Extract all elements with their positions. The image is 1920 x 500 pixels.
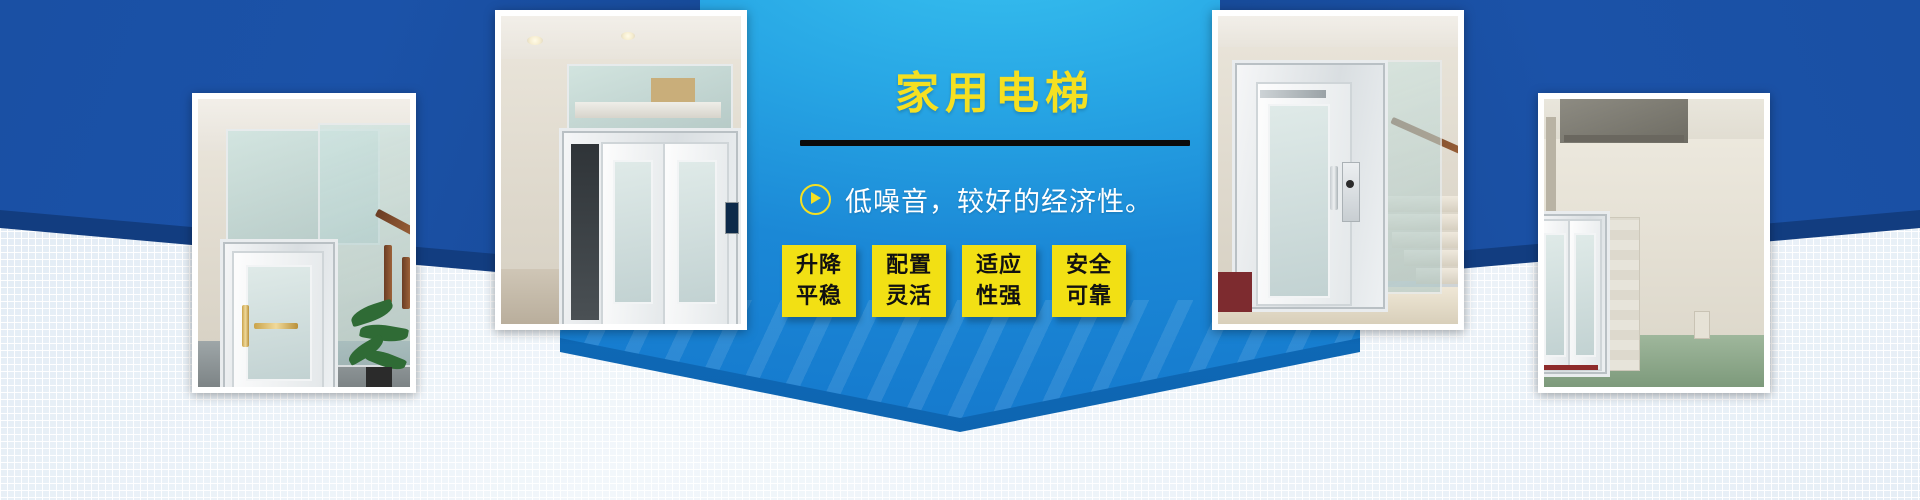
page-title: 家用电梯	[760, 70, 1230, 118]
photo-4-scene	[1544, 99, 1764, 387]
subtitle-text: 低噪音，较好的经济性。	[845, 180, 1153, 219]
product-photo-3[interactable]	[1212, 10, 1464, 330]
product-photo-2[interactable]	[495, 10, 747, 330]
banner-text-block: 家用电梯 低噪音，较好的经济性。 升降 平稳 配置 灵活 适应 性强 安全 可靠	[760, 70, 1230, 317]
subtitle-row: 低噪音，较好的经济性。	[800, 180, 1230, 219]
feature-tag-list: 升降 平稳 配置 灵活 适应 性强 安全 可靠	[782, 245, 1230, 317]
product-photo-1[interactable]	[192, 93, 416, 393]
feature-tag-line2: 可靠	[1066, 281, 1112, 313]
photo-3-scene	[1218, 16, 1458, 324]
photo-1-scene	[198, 99, 410, 387]
home-elevator-banner: 家用电梯 低噪音，较好的经济性。 升降 平稳 配置 灵活 适应 性强 安全 可靠	[0, 0, 1920, 500]
title-divider	[800, 140, 1190, 146]
feature-tag-line1: 配置	[886, 250, 932, 282]
product-photo-4[interactable]	[1538, 93, 1770, 393]
feature-tag-line2: 性强	[976, 281, 1022, 313]
feature-tag[interactable]: 适应 性强	[962, 245, 1036, 317]
photo-2-scene	[501, 16, 741, 324]
feature-tag[interactable]: 安全 可靠	[1052, 245, 1126, 317]
feature-tag-line1: 升降	[796, 250, 842, 282]
feature-tag[interactable]: 配置 灵活	[872, 245, 946, 317]
play-circle-icon	[800, 184, 831, 215]
feature-tag-line1: 适应	[976, 250, 1022, 282]
feature-tag[interactable]: 升降 平稳	[782, 245, 856, 317]
feature-tag-line2: 平稳	[796, 281, 842, 313]
feature-tag-line2: 灵活	[886, 281, 932, 313]
feature-tag-line1: 安全	[1066, 250, 1112, 282]
